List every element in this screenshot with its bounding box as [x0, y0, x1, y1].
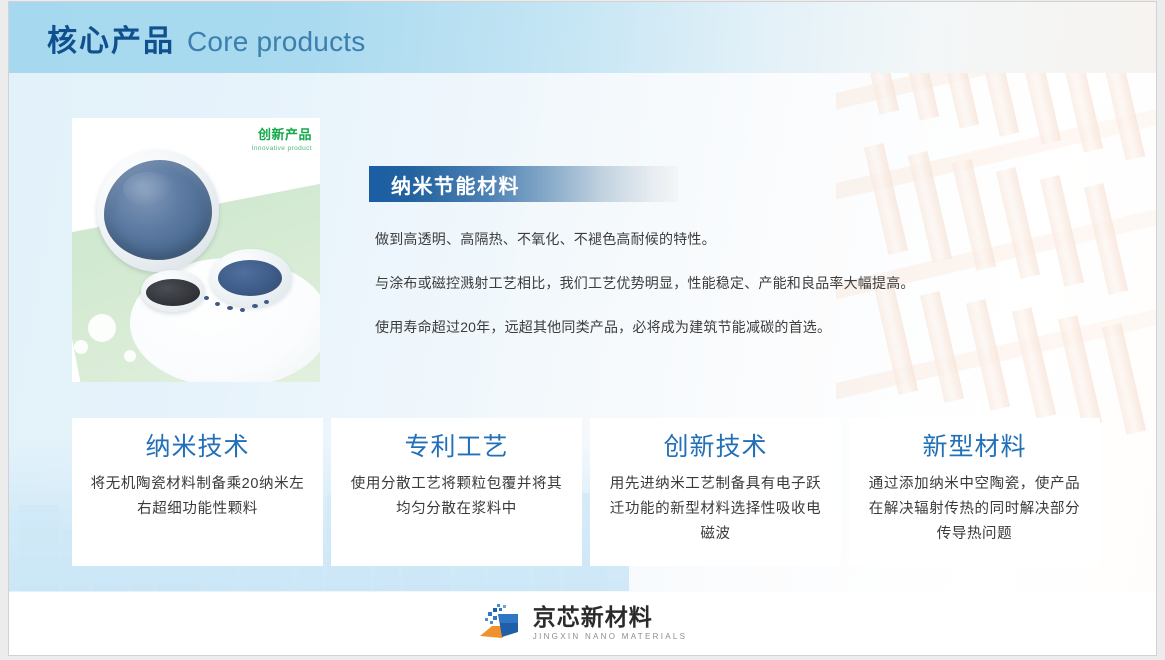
- feature-card-list: 纳米技术 将无机陶瓷材料制备乘20纳米左右超细功能性颗料 专利工艺 使用分散工艺…: [72, 418, 1100, 566]
- photo-pellet-spill: [215, 302, 220, 306]
- tag-label-cn: 创新产品: [252, 124, 312, 143]
- logo-name-cn: 京芯新材料: [533, 606, 687, 629]
- feature-card-nano-technology[interactable]: 纳米技术 将无机陶瓷材料制备乘20纳米左右超细功能性颗料: [72, 418, 323, 566]
- logo-name-en: JINGXIN NANO MATERIALS: [533, 633, 687, 641]
- card-title: 纳米技术: [86, 434, 309, 462]
- photo-pellet-spill: [252, 304, 258, 308]
- tag-label-en: Innovative product: [252, 145, 312, 152]
- product-title-bar: 纳米节能材料: [369, 166, 678, 202]
- blue-pellets: [218, 260, 282, 296]
- company-logo: 京芯新材料 JINGXIN NANO MATERIALS: [478, 604, 687, 644]
- page-title-en: Core products: [187, 26, 365, 58]
- black-granules: [146, 279, 200, 306]
- product-photo: 创新产品 Innovative product: [72, 118, 320, 382]
- slide-header: 核心产品 Core products: [9, 2, 1156, 73]
- logo-mark-icon: [478, 604, 524, 644]
- card-title: 专利工艺: [345, 434, 568, 462]
- blue-nano-powder: [104, 160, 212, 260]
- photo-decor-circle: [88, 314, 116, 342]
- card-body: 将无机陶瓷材料制备乘20纳米左右超细功能性颗料: [86, 472, 309, 523]
- slide-canvas: 核心产品 Core products 创新产品 Innovative produ…: [0, 0, 1165, 660]
- description-line: 与涂布或磁控溅射工艺相比，我们工艺优势明显，性能稳定、产能和良品率大幅提高。: [375, 274, 1025, 292]
- slide-footer: 京芯新材料 JINGXIN NANO MATERIALS: [9, 592, 1156, 655]
- product-title: 纳米节能材料: [369, 170, 520, 199]
- feature-card-new-material[interactable]: 新型材料 通过添加纳米中空陶瓷，使产品在解决辐射传热的同时解决部分传导热问题: [849, 418, 1100, 566]
- photo-decor-circle: [74, 340, 88, 354]
- photo-granule-dish: [141, 270, 205, 312]
- product-description: 做到高透明、高隔热、不氧化、不褪色高耐候的特性。 与涂布或磁控溅射工艺相比，我们…: [375, 230, 1025, 363]
- card-body: 通过添加纳米中空陶瓷，使产品在解决辐射传热的同时解决部分传导热问题: [863, 472, 1086, 548]
- photo-pellet-spill: [240, 308, 245, 312]
- photo-pellet-spill: [264, 300, 269, 304]
- card-title: 创新技术: [604, 434, 827, 462]
- card-body: 用先进纳米工艺制备具有电子跃迁功能的新型材料选择性吸收电磁波: [604, 472, 827, 548]
- feature-card-patented-process[interactable]: 专利工艺 使用分散工艺将颗粒包覆并将其均匀分散在浆料中: [331, 418, 582, 566]
- photo-pellet-spill: [204, 296, 209, 300]
- logo-glyph-icon: [478, 604, 524, 644]
- slide-frame: 核心产品 Core products 创新产品 Innovative produ…: [9, 2, 1156, 655]
- logo-text-group: 京芯新材料 JINGXIN NANO MATERIALS: [533, 606, 687, 641]
- photo-decor-circle: [124, 350, 136, 362]
- description-line: 做到高透明、高隔热、不氧化、不褪色高耐候的特性。: [375, 230, 1025, 248]
- description-line: 使用寿命超过20年，远超其他同类产品，必将成为建筑节能减碳的首选。: [375, 318, 1025, 336]
- page-title-cn: 核心产品: [47, 16, 175, 60]
- photo-pellet-dish: [210, 249, 292, 307]
- feature-card-innovative-technology[interactable]: 创新技术 用先进纳米工艺制备具有电子跃迁功能的新型材料选择性吸收电磁波: [590, 418, 841, 566]
- card-body: 使用分散工艺将颗粒包覆并将其均匀分散在浆料中: [345, 472, 568, 523]
- header-title-group: 核心产品 Core products: [9, 16, 365, 60]
- photo-powder-dish: [97, 150, 219, 272]
- card-title: 新型材料: [863, 434, 1086, 462]
- innovative-product-tag: 创新产品 Innovative product: [252, 124, 312, 152]
- photo-pellet-spill: [227, 306, 233, 310]
